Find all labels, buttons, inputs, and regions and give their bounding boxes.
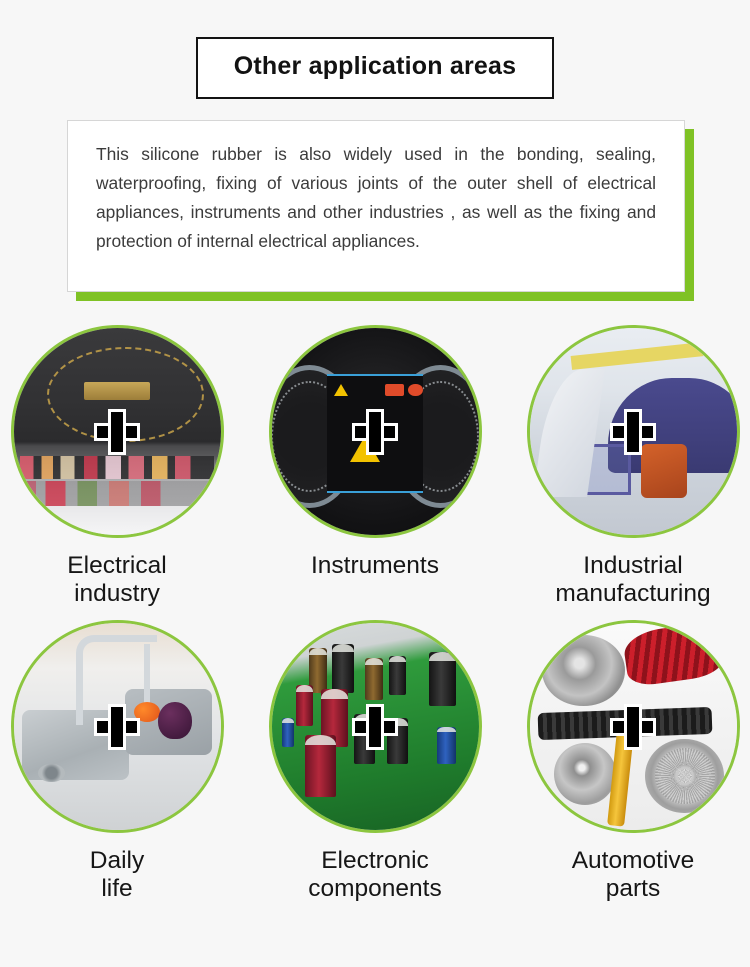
application-card-automotive-parts[interactable]: Automotive parts bbox=[516, 620, 750, 903]
application-label-daily-life: Daily life bbox=[90, 847, 144, 903]
warning-triangle-small-icon bbox=[334, 384, 348, 396]
factory-crane-beam bbox=[570, 342, 703, 370]
application-image-electronic-components[interactable] bbox=[269, 620, 482, 833]
description-container: This silicone rubber is also widely used… bbox=[67, 120, 685, 292]
capacitor bbox=[282, 718, 294, 747]
plus-icon-center bbox=[627, 426, 639, 438]
capacitor bbox=[365, 658, 384, 699]
plus-icon-center bbox=[627, 721, 639, 733]
battery-warning-icon bbox=[385, 384, 404, 396]
application-card-electrical-industry[interactable]: Electrical industry bbox=[0, 325, 234, 608]
plus-icon-center bbox=[111, 721, 123, 733]
application-label-automotive-parts: Automotive parts bbox=[572, 847, 695, 903]
application-card-instruments[interactable]: Instruments bbox=[258, 325, 492, 608]
application-label-industrial-manufacturing: Industrial manufacturing bbox=[555, 552, 710, 608]
plus-icon[interactable] bbox=[94, 704, 140, 750]
application-image-industrial-manufacturing[interactable] bbox=[527, 325, 740, 538]
plus-icon[interactable] bbox=[94, 409, 140, 455]
application-label-electronic-components: Electronic components bbox=[308, 847, 441, 903]
eggplant bbox=[158, 702, 191, 739]
capacitor bbox=[437, 727, 456, 764]
capacitor bbox=[332, 644, 355, 694]
capacitor bbox=[389, 656, 406, 695]
plus-icon-center bbox=[111, 426, 123, 438]
application-card-electronic-components[interactable]: Electronic components bbox=[258, 620, 492, 903]
cooker-control-panel bbox=[18, 481, 217, 506]
application-label-instruments: Instruments bbox=[311, 552, 439, 580]
description-card: This silicone rubber is also widely used… bbox=[67, 120, 685, 292]
cooker-brand-logo bbox=[84, 382, 150, 401]
application-row-2: Daily life bbox=[0, 620, 750, 903]
clutch-plate bbox=[542, 635, 625, 705]
application-card-daily-life[interactable]: Daily life bbox=[0, 620, 234, 903]
oil-warning-icon bbox=[408, 384, 422, 396]
application-row-1: Electrical industry Ins bbox=[0, 325, 750, 608]
wheel-hub bbox=[554, 743, 616, 805]
application-card-industrial-manufacturing[interactable]: Industrial manufacturing bbox=[516, 325, 750, 608]
page-title-container: Other application areas bbox=[0, 37, 750, 99]
timing-belts bbox=[621, 620, 727, 687]
description-paragraph: This silicone rubber is also widely used… bbox=[96, 140, 656, 256]
application-label-electrical-industry: Electrical industry bbox=[67, 552, 166, 608]
page-title: Other application areas bbox=[234, 53, 516, 81]
plus-icon-center bbox=[369, 426, 381, 438]
application-image-instruments[interactable] bbox=[269, 325, 482, 538]
capacitor bbox=[429, 652, 456, 706]
page-title-box: Other application areas bbox=[196, 37, 554, 99]
capacitor bbox=[296, 685, 313, 726]
application-image-electrical-industry[interactable] bbox=[11, 325, 224, 538]
application-image-automotive-parts[interactable] bbox=[527, 620, 740, 833]
brake-rotor bbox=[645, 739, 724, 814]
plus-icon-center bbox=[369, 721, 381, 733]
application-grid: Electrical industry Ins bbox=[0, 325, 750, 903]
plus-icon[interactable] bbox=[352, 704, 398, 750]
plus-icon[interactable] bbox=[610, 409, 656, 455]
plus-icon[interactable] bbox=[352, 409, 398, 455]
plus-icon[interactable] bbox=[610, 704, 656, 750]
capacitor bbox=[305, 735, 336, 797]
application-image-daily-life[interactable] bbox=[11, 620, 224, 833]
